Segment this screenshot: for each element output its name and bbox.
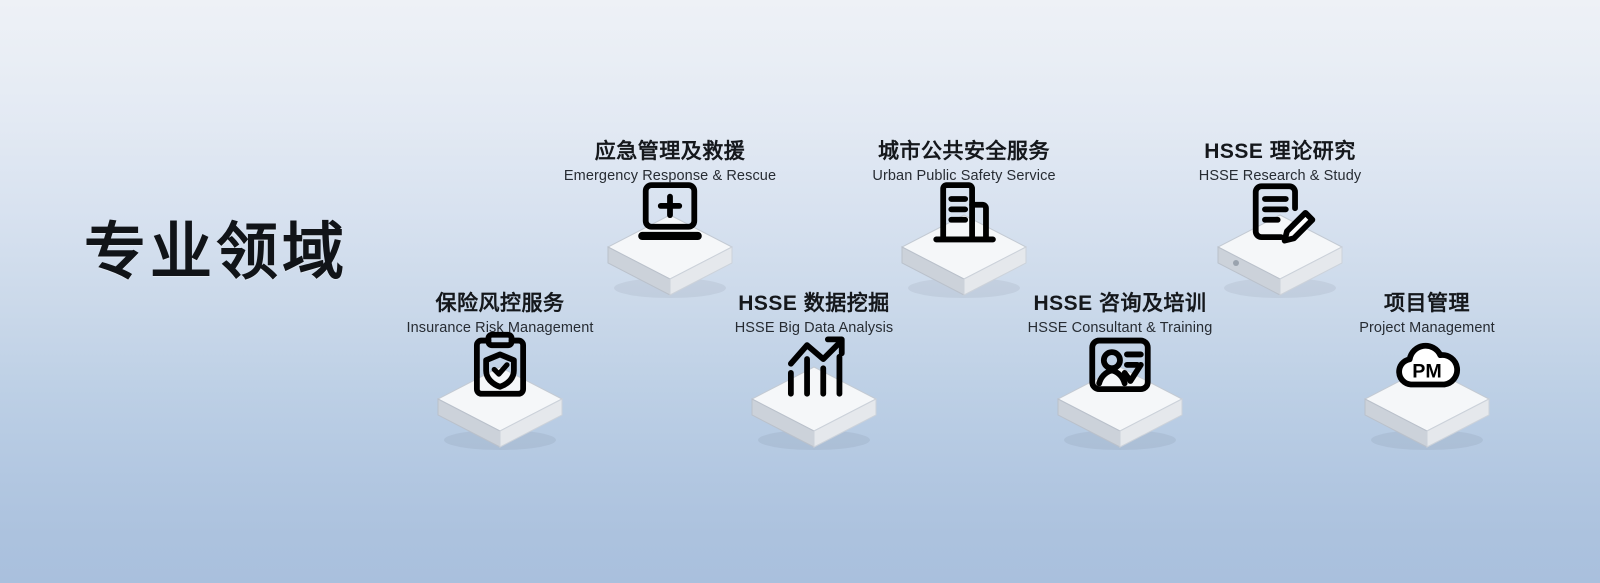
field-title-cn: HSSE 理论研究 [1130, 140, 1430, 165]
field-card-project[interactable]: 项目管理 Project Management PM [1277, 292, 1577, 455]
field-pedestal-wrap [520, 193, 820, 303]
id-card-person-check-icon [1083, 329, 1157, 403]
field-pedestal-wrap [970, 345, 1270, 455]
field-pedestal-wrap [1130, 193, 1430, 303]
professional-fields-banner: 专业领域 应急管理及救援 Emergency Response & Rescue [0, 0, 1600, 583]
field-pedestal-wrap [814, 193, 1114, 303]
first-aid-kit-icon [633, 177, 707, 251]
field-card-research[interactable]: HSSE 理论研究 HSSE Research & Study [1130, 140, 1430, 303]
field-card-emergency[interactable]: 应急管理及救援 Emergency Response & Rescue [520, 140, 820, 303]
field-title-cn: 项目管理 [1277, 292, 1577, 317]
field-title-cn: HSSE 咨询及培训 [970, 292, 1270, 317]
field-title-cn: HSSE 数据挖掘 [664, 292, 964, 317]
field-card-bigdata[interactable]: HSSE 数据挖掘 HSSE Big Data Analysis [664, 292, 964, 455]
field-pedestal-wrap: PM [1277, 345, 1577, 455]
clipboard-shield-check-icon [463, 329, 537, 403]
field-title-cn: 城市公共安全服务 [814, 140, 1114, 165]
cloud-pm-icon-text: PM [1412, 361, 1441, 383]
city-building-icon [927, 177, 1001, 251]
field-card-consult[interactable]: HSSE 咨询及培训 HSSE Consultant & Training [970, 292, 1270, 455]
page-title: 专业领域 [84, 222, 348, 284]
cloud-pm-icon: PM [1390, 329, 1464, 403]
field-pedestal-wrap [664, 345, 964, 455]
field-pedestal-wrap [350, 345, 650, 455]
document-pencil-icon [1243, 177, 1317, 251]
field-title-cn: 应急管理及救援 [520, 140, 820, 165]
field-title-cn: 保险风控服务 [350, 292, 650, 317]
field-card-urban[interactable]: 城市公共安全服务 Urban Public Safety Service [814, 140, 1114, 303]
bar-chart-trend-up-icon [777, 329, 851, 403]
field-card-insurance[interactable]: 保险风控服务 Insurance Risk Management [350, 292, 650, 455]
